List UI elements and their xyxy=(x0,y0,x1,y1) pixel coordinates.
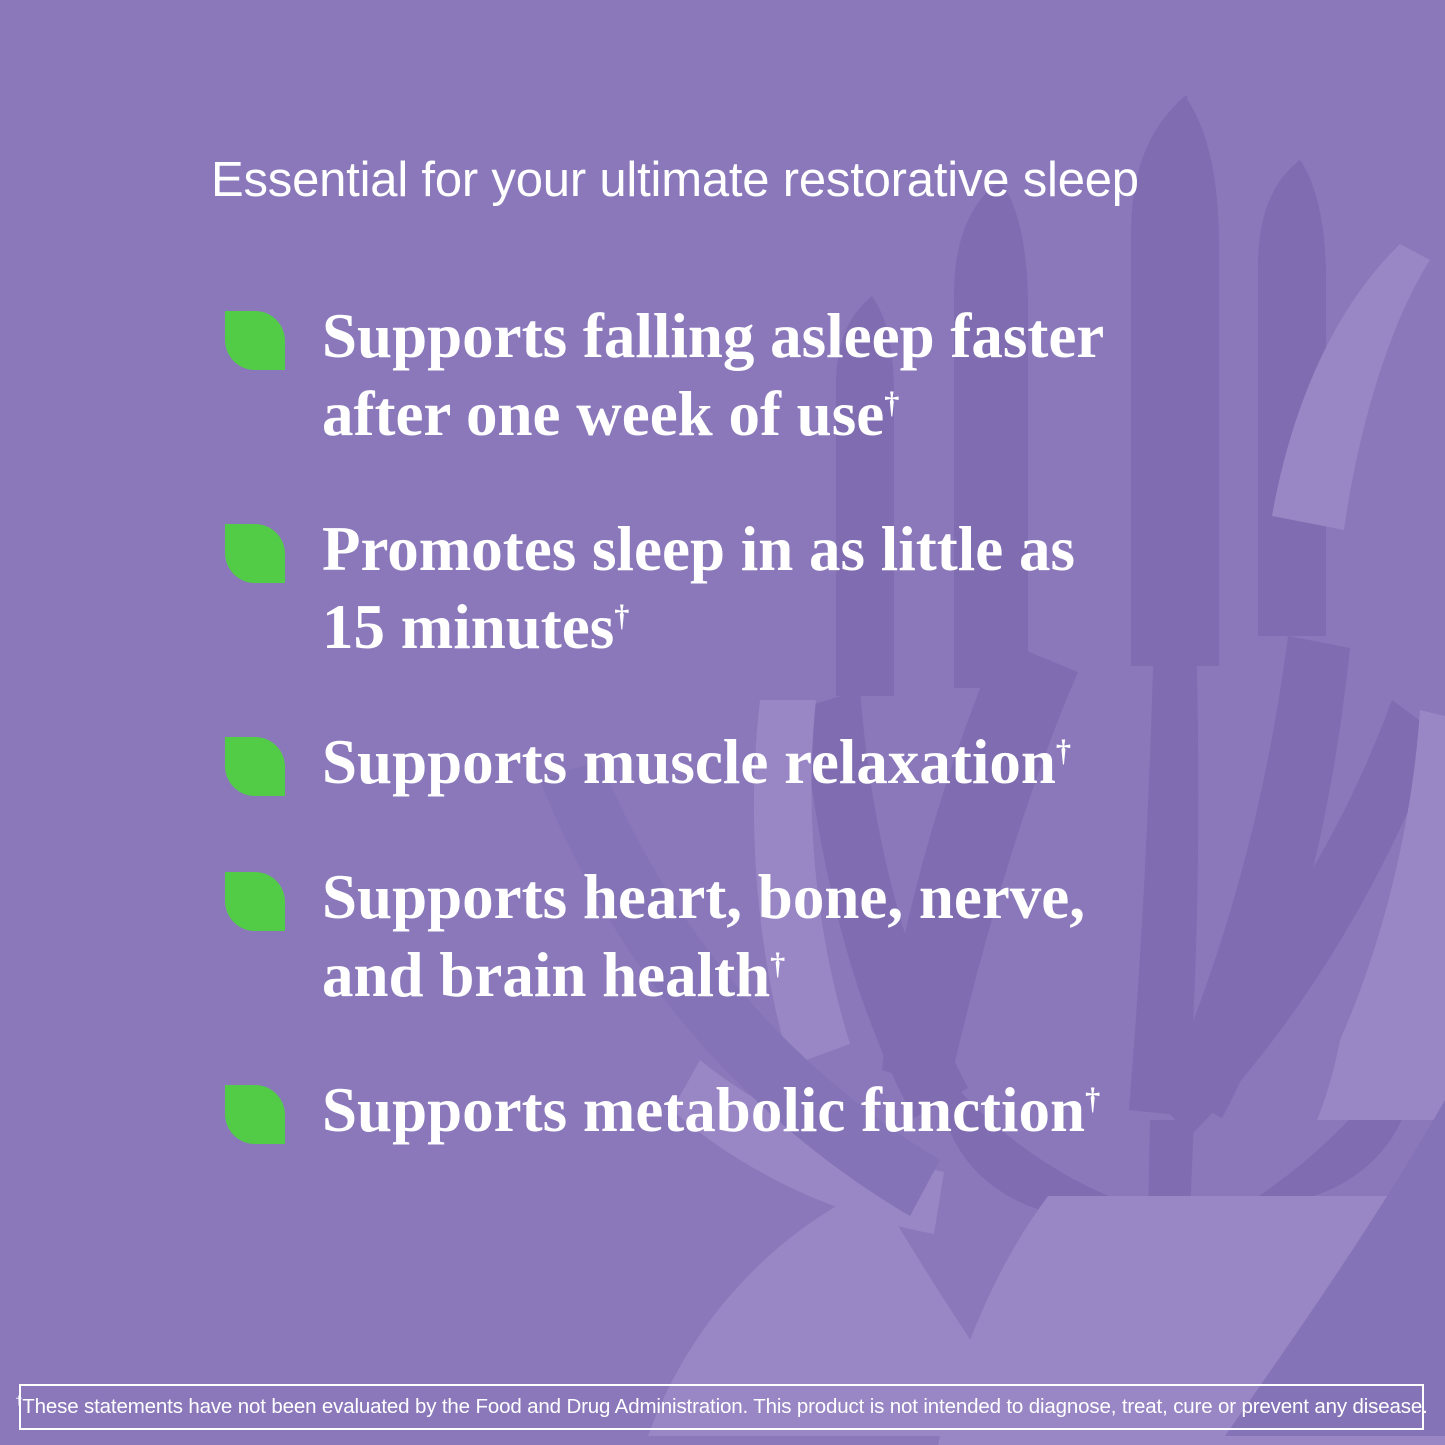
benefit-item-5: Supports metabolic function† xyxy=(225,1071,1345,1149)
leaf-icon xyxy=(225,1085,285,1144)
leaf-icon xyxy=(225,524,285,583)
benefit-item-4: Supports heart, bone, nerve, and brain h… xyxy=(225,858,1345,1014)
disclaimer-text: †These statements have not been evaluate… xyxy=(15,1395,1427,1419)
benefit-item-1: Supports falling asleep faster after one… xyxy=(225,297,1345,453)
leaf-icon xyxy=(225,737,285,796)
dagger-symbol: † xyxy=(770,947,785,981)
benefit-line-1: Supports metabolic function xyxy=(322,1075,1085,1145)
disclaimer-box: †These statements have not been evaluate… xyxy=(19,1384,1424,1430)
benefit-line-2: 15 minutes xyxy=(322,592,614,662)
benefit-text-2: Promotes sleep in as little as 15 minute… xyxy=(322,510,1075,666)
benefit-line-1: Supports muscle relaxation xyxy=(322,727,1056,797)
benefit-text-4: Supports heart, bone, nerve, and brain h… xyxy=(322,858,1085,1014)
product-benefits-card: Essential for your ultimate restorative … xyxy=(0,0,1445,1445)
benefit-text-1: Supports falling asleep faster after one… xyxy=(322,297,1104,453)
benefits-list: Supports falling asleep faster after one… xyxy=(225,297,1345,1149)
benefit-item-3: Supports muscle relaxation† xyxy=(225,723,1345,801)
benefit-line-2: and brain health xyxy=(322,940,770,1010)
disclaimer-body: These statements have not been evaluated… xyxy=(22,1395,1427,1418)
benefit-text-5: Supports metabolic function† xyxy=(322,1071,1100,1149)
dagger-symbol: † xyxy=(1085,1082,1100,1116)
leaf-icon xyxy=(225,311,285,370)
page-title: Essential for your ultimate restorative … xyxy=(211,152,1311,208)
dagger-symbol: † xyxy=(614,599,629,633)
benefit-item-2: Promotes sleep in as little as 15 minute… xyxy=(225,510,1345,666)
benefit-line-1: Supports falling asleep faster xyxy=(322,301,1104,371)
leaf-icon xyxy=(225,872,285,931)
dagger-symbol: † xyxy=(884,386,899,420)
benefit-line-2: after one week of use xyxy=(322,379,884,449)
benefit-text-3: Supports muscle relaxation† xyxy=(322,723,1071,801)
dagger-symbol: † xyxy=(1056,734,1071,768)
benefit-line-1: Promotes sleep in as little as xyxy=(322,514,1075,584)
benefit-line-1: Supports heart, bone, nerve, xyxy=(322,862,1085,932)
